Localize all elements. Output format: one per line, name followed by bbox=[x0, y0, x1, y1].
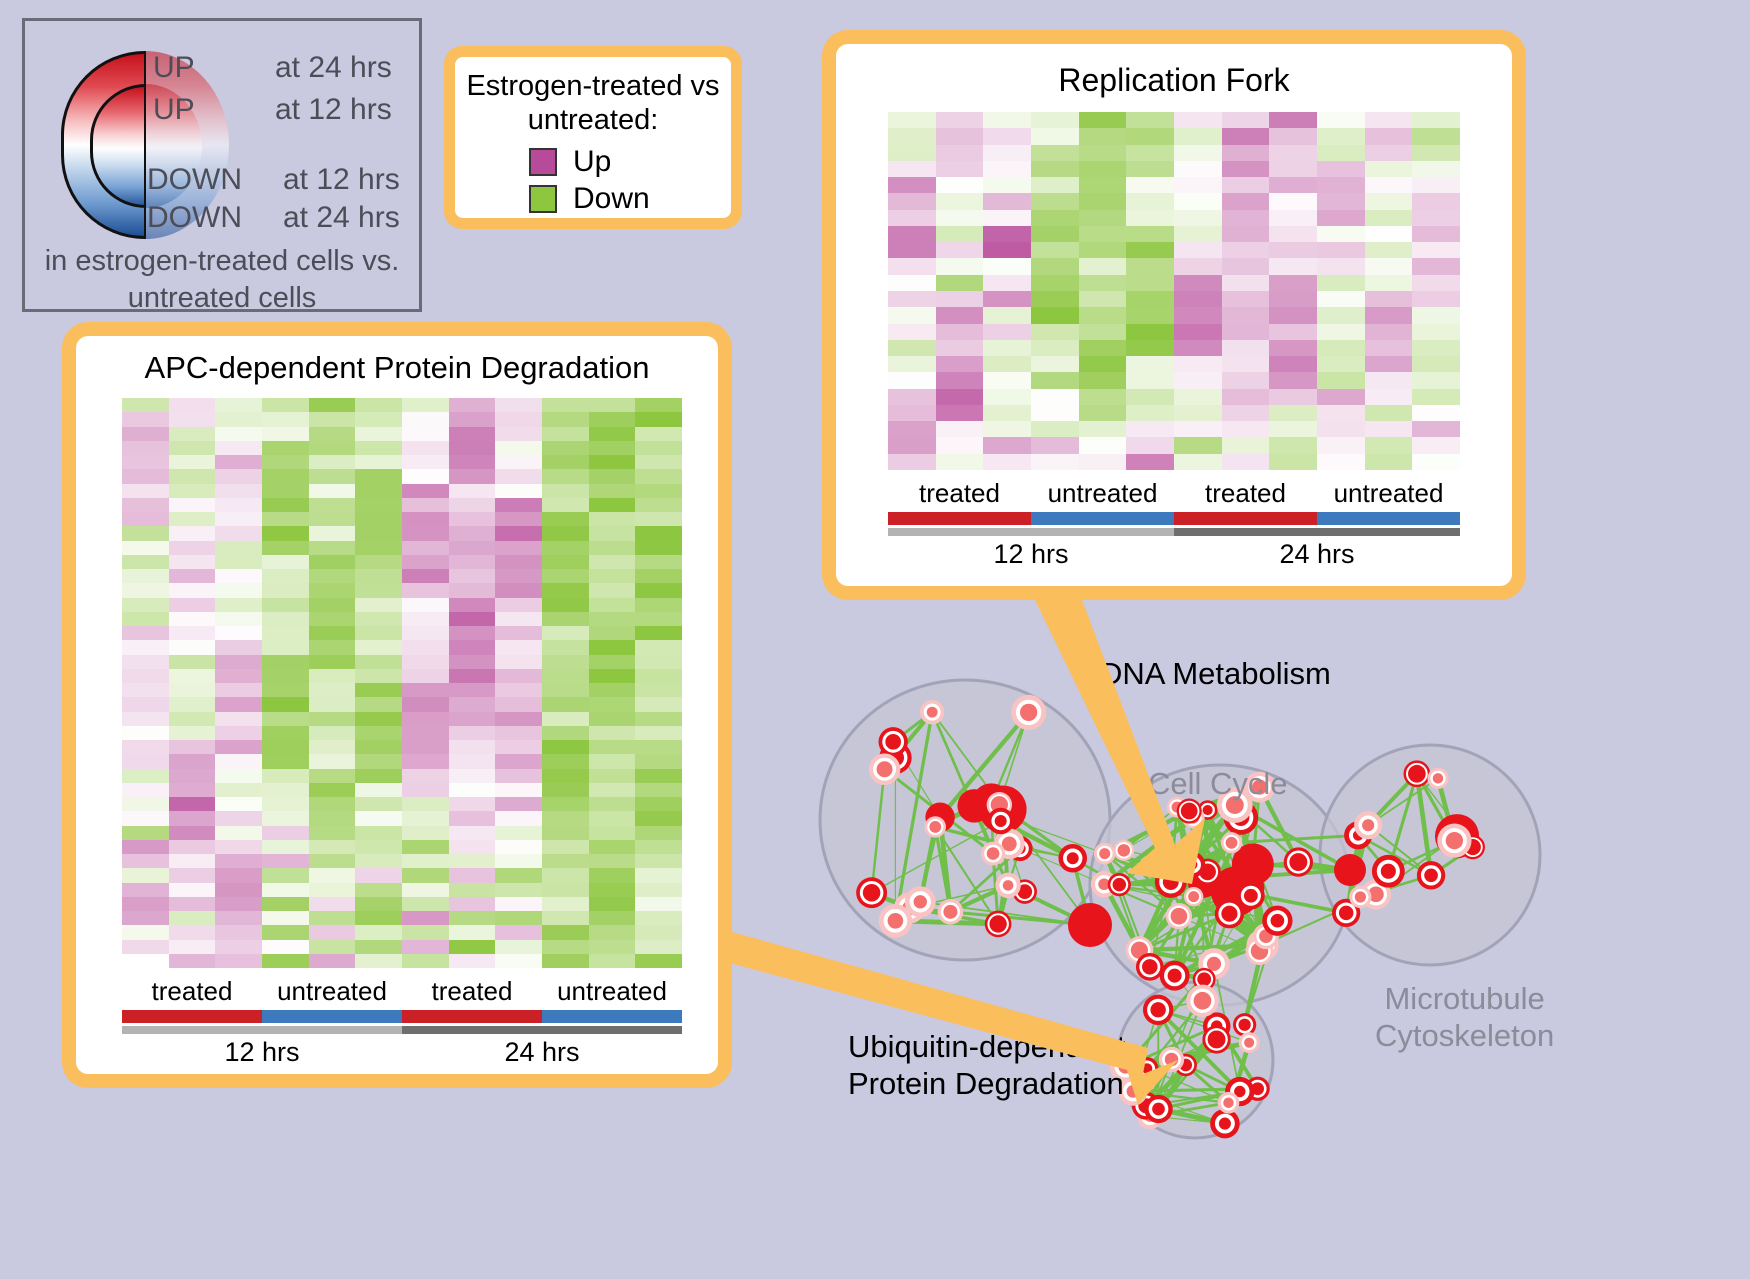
heatmap-cell bbox=[1365, 437, 1413, 453]
heatmap-cell bbox=[589, 512, 636, 526]
heatmap-cell bbox=[1365, 226, 1413, 242]
heatmap-cell bbox=[589, 683, 636, 697]
heatmap-cell bbox=[215, 555, 262, 569]
network-node bbox=[1188, 891, 1199, 902]
heatmap-cell bbox=[1031, 226, 1079, 242]
heatmap-cell bbox=[495, 840, 542, 854]
network-node bbox=[1197, 972, 1211, 986]
heatmap-cell bbox=[122, 811, 169, 825]
heatmap-cell bbox=[449, 911, 496, 925]
panel-replication-fork: Replication Fork treateduntreatedtreated… bbox=[822, 30, 1526, 600]
heatmap-cell bbox=[1126, 128, 1174, 144]
heatmap-cell bbox=[542, 797, 589, 811]
heatmap-cell bbox=[635, 797, 682, 811]
time-labels: 12 hrs24 hrs bbox=[888, 539, 1460, 570]
treatment-bar bbox=[542, 1010, 682, 1023]
heatmap-cell bbox=[589, 412, 636, 426]
heatmap-cell bbox=[495, 854, 542, 868]
heatmap-cell bbox=[635, 954, 682, 968]
heatmap-cell bbox=[215, 398, 262, 412]
heatmap-cell bbox=[635, 427, 682, 441]
heatmap-cell bbox=[122, 840, 169, 854]
heatmap-cell bbox=[542, 498, 589, 512]
heatmap-cell bbox=[589, 541, 636, 555]
heatmap-cell bbox=[402, 526, 449, 540]
heatmap-cell bbox=[309, 669, 356, 683]
heatmap-cell bbox=[169, 512, 216, 526]
heatmap-cell bbox=[402, 911, 449, 925]
heatmap-cell bbox=[122, 740, 169, 754]
heatmap-cell bbox=[1412, 324, 1460, 340]
heatmap-cell bbox=[888, 258, 936, 274]
heatmap-cell bbox=[1031, 340, 1079, 356]
heatmap-cell bbox=[262, 883, 309, 897]
heatmap-cell bbox=[635, 598, 682, 612]
heatmap-cell bbox=[449, 583, 496, 597]
heatmap-cell bbox=[1174, 437, 1222, 453]
heatmap-cell bbox=[1269, 454, 1317, 470]
heatmap-cell bbox=[589, 740, 636, 754]
time-label: 24 hrs bbox=[402, 1037, 682, 1068]
heatmap-cell bbox=[1222, 275, 1270, 291]
apc-title: APC-dependent Protein Degradation bbox=[76, 350, 718, 386]
heatmap-cell bbox=[1031, 421, 1079, 437]
heatmap-cell bbox=[355, 583, 402, 597]
heatmap-cell bbox=[355, 655, 402, 669]
heatmap-cell bbox=[1031, 356, 1079, 372]
network-node bbox=[1099, 848, 1110, 859]
key-label-down: Down bbox=[573, 182, 650, 216]
heatmap-cell bbox=[169, 398, 216, 412]
heatmap-cell bbox=[542, 626, 589, 640]
network-node bbox=[1334, 854, 1366, 886]
legend-label-up-12: UP bbox=[153, 93, 195, 127]
network-node bbox=[1067, 852, 1079, 864]
heatmap-cell bbox=[1079, 372, 1127, 388]
heatmap-cell bbox=[1365, 454, 1413, 470]
heatmap-cell bbox=[215, 683, 262, 697]
heatmap-cell bbox=[635, 840, 682, 854]
network-node bbox=[1433, 773, 1443, 783]
heatmap-cell bbox=[1269, 145, 1317, 161]
heatmap-cell bbox=[262, 484, 309, 498]
heatmap-cell bbox=[1269, 372, 1317, 388]
heatmap-cell bbox=[936, 258, 984, 274]
heatmap-cell bbox=[355, 826, 402, 840]
heatmap-cell bbox=[983, 258, 1031, 274]
heatmap-cell bbox=[355, 612, 402, 626]
heatmap-cell bbox=[169, 484, 216, 498]
heatmap-cell bbox=[1174, 145, 1222, 161]
heatmap-cell bbox=[542, 669, 589, 683]
heatmap-cell bbox=[589, 469, 636, 483]
heatmap-cell bbox=[635, 441, 682, 455]
heatmap-cell bbox=[402, 498, 449, 512]
heatmap-cell bbox=[355, 883, 402, 897]
heatmap-cell bbox=[1317, 177, 1365, 193]
heatmap-cell bbox=[262, 911, 309, 925]
heatmap-cell bbox=[309, 569, 356, 583]
heatmap-cell bbox=[355, 398, 402, 412]
group-labels: treateduntreatedtreateduntreated bbox=[122, 976, 682, 1007]
heatmap-cell bbox=[122, 512, 169, 526]
heatmap-cell bbox=[1126, 291, 1174, 307]
network-node bbox=[1339, 906, 1353, 920]
heatmap-cell bbox=[1269, 161, 1317, 177]
heatmap-cell bbox=[309, 868, 356, 882]
heatmap-cell bbox=[495, 669, 542, 683]
network-node bbox=[989, 915, 1006, 932]
time-label: 12 hrs bbox=[122, 1037, 402, 1068]
heatmap-cell bbox=[495, 626, 542, 640]
heatmap-cell bbox=[169, 469, 216, 483]
heatmap-cell bbox=[402, 469, 449, 483]
heatmap-cell bbox=[542, 555, 589, 569]
heatmap-cell bbox=[635, 712, 682, 726]
legend-time-up-24: at 24 hrs bbox=[275, 51, 392, 85]
heatmap-cell bbox=[635, 526, 682, 540]
heatmap-cell bbox=[262, 669, 309, 683]
heatmap-cell bbox=[1174, 454, 1222, 470]
heatmap-cell bbox=[449, 541, 496, 555]
key-items: Up Down bbox=[455, 145, 731, 216]
heatmap-cell bbox=[1031, 210, 1079, 226]
heatmap-cell bbox=[449, 811, 496, 825]
heatmap-cell bbox=[309, 697, 356, 711]
treatment-bar bbox=[122, 1010, 262, 1023]
time-bar bbox=[888, 528, 1174, 536]
heatmap-cell bbox=[122, 925, 169, 939]
heatmap-cell bbox=[169, 427, 216, 441]
heatmap-cell bbox=[449, 569, 496, 583]
heatmap-cell bbox=[449, 455, 496, 469]
heatmap-cell bbox=[449, 883, 496, 897]
heatmap-cell bbox=[262, 797, 309, 811]
heatmap-cell bbox=[309, 854, 356, 868]
heatmap-cell bbox=[355, 569, 402, 583]
heatmap-cell bbox=[169, 612, 216, 626]
heatmap-cell bbox=[449, 498, 496, 512]
treatment-bars bbox=[888, 512, 1460, 525]
heatmap-cell bbox=[1412, 291, 1460, 307]
heatmap-cell bbox=[1317, 437, 1365, 453]
heatmap-cell bbox=[635, 412, 682, 426]
heatmap-cell bbox=[309, 512, 356, 526]
heatmap-cell bbox=[449, 612, 496, 626]
heatmap-cell bbox=[122, 797, 169, 811]
heatmap-cell bbox=[449, 769, 496, 783]
heatmap-cell bbox=[215, 669, 262, 683]
heatmap-cell bbox=[589, 484, 636, 498]
heatmap-cell bbox=[309, 797, 356, 811]
heatmap-cell bbox=[589, 398, 636, 412]
heatmap-cell bbox=[262, 754, 309, 768]
heatmap-cell bbox=[983, 372, 1031, 388]
heatmap-cell bbox=[495, 526, 542, 540]
heatmap-cell bbox=[1079, 161, 1127, 177]
heatmap-cell bbox=[1269, 340, 1317, 356]
heatmap-cell bbox=[983, 421, 1031, 437]
heatmap-cell bbox=[169, 669, 216, 683]
heatmap-cell bbox=[1412, 112, 1460, 128]
heatmap-cell bbox=[1222, 405, 1270, 421]
heatmap-cell bbox=[542, 811, 589, 825]
heatmap-cell bbox=[542, 726, 589, 740]
heatmap-cell bbox=[495, 469, 542, 483]
heatmap-cell bbox=[215, 754, 262, 768]
heatmap-cell bbox=[122, 712, 169, 726]
network-node bbox=[957, 789, 991, 823]
heatmap-cell bbox=[635, 484, 682, 498]
heatmap-cell bbox=[888, 454, 936, 470]
heatmap-cell bbox=[215, 512, 262, 526]
heatmap-cell bbox=[495, 883, 542, 897]
heatmap-cell bbox=[215, 526, 262, 540]
heatmap-cell bbox=[589, 498, 636, 512]
network-node bbox=[1244, 889, 1258, 903]
heatmap-cell bbox=[495, 783, 542, 797]
heatmap-cell bbox=[355, 697, 402, 711]
heatmap-cell bbox=[589, 712, 636, 726]
heatmap-cell bbox=[122, 484, 169, 498]
time-bar bbox=[1174, 528, 1460, 536]
heatmap-cell bbox=[355, 769, 402, 783]
heatmap-cell bbox=[402, 868, 449, 882]
heatmap-cell bbox=[449, 712, 496, 726]
group-label: treated bbox=[888, 478, 1031, 509]
heatmap-cell bbox=[1174, 210, 1222, 226]
heatmap-cell bbox=[888, 242, 936, 258]
heatmap-cell bbox=[262, 811, 309, 825]
heatmap-cell bbox=[589, 441, 636, 455]
heatmap-cell bbox=[1365, 421, 1413, 437]
network-node bbox=[1381, 864, 1396, 879]
heatmap-cell bbox=[1126, 356, 1174, 372]
heatmap-cell bbox=[542, 783, 589, 797]
heatmap-cell bbox=[215, 412, 262, 426]
key-item-down: Down bbox=[529, 182, 731, 216]
heatmap-cell bbox=[355, 427, 402, 441]
heatmap-cell bbox=[122, 883, 169, 897]
heatmap-cell bbox=[542, 854, 589, 868]
heatmap-cell bbox=[122, 398, 169, 412]
heatmap-cell bbox=[309, 484, 356, 498]
heatmap-cell bbox=[1174, 161, 1222, 177]
heatmap-cell bbox=[1174, 291, 1222, 307]
heatmap-cell bbox=[355, 512, 402, 526]
heatmap-cell bbox=[1317, 128, 1365, 144]
heatmap-cell bbox=[449, 868, 496, 882]
heatmap-cell bbox=[1412, 405, 1460, 421]
heatmap-cell bbox=[888, 128, 936, 144]
heatmap-cell bbox=[888, 210, 936, 226]
heatmap-cell bbox=[169, 883, 216, 897]
heatmap-cell bbox=[169, 911, 216, 925]
heatmap-cell bbox=[589, 526, 636, 540]
network-node bbox=[1271, 914, 1285, 928]
heatmap-cell bbox=[1412, 372, 1460, 388]
heatmap-cell bbox=[589, 811, 636, 825]
heatmap-cell bbox=[589, 569, 636, 583]
heatmap-cell bbox=[542, 441, 589, 455]
heatmap-cell bbox=[1174, 340, 1222, 356]
heatmap-cell bbox=[449, 840, 496, 854]
heatmap-cell bbox=[1222, 128, 1270, 144]
heatmap-cell bbox=[262, 569, 309, 583]
heatmap-cell bbox=[495, 925, 542, 939]
treatment-bar bbox=[1317, 512, 1460, 525]
heatmap-cell bbox=[1365, 389, 1413, 405]
heatmap-cell bbox=[215, 883, 262, 897]
heatmap-cell bbox=[169, 925, 216, 939]
heatmap-cell bbox=[215, 769, 262, 783]
heatmap-cell bbox=[983, 128, 1031, 144]
heatmap-cell bbox=[1365, 177, 1413, 193]
heatmap-cell bbox=[888, 405, 936, 421]
network-node bbox=[1208, 1030, 1226, 1048]
heatmap-cell bbox=[1079, 454, 1127, 470]
heatmap-cell bbox=[309, 441, 356, 455]
heatmap-cell bbox=[169, 626, 216, 640]
heatmap-cell bbox=[1317, 291, 1365, 307]
heatmap-cell bbox=[262, 598, 309, 612]
heatmap-cell bbox=[888, 161, 936, 177]
heatmap-cell bbox=[1126, 405, 1174, 421]
heatmap-cell bbox=[983, 389, 1031, 405]
heatmap-cell bbox=[1031, 307, 1079, 323]
heatmap-cell bbox=[1269, 356, 1317, 372]
heatmap-cell bbox=[1365, 128, 1413, 144]
heatmap-cell bbox=[1269, 324, 1317, 340]
heatmap-cell bbox=[355, 526, 402, 540]
heatmap-cell bbox=[888, 372, 936, 388]
heatmap-cell bbox=[542, 840, 589, 854]
heatmap-cell bbox=[983, 405, 1031, 421]
heatmap-cell bbox=[1126, 340, 1174, 356]
heatmap-cell bbox=[215, 811, 262, 825]
heatmap-cell bbox=[169, 541, 216, 555]
heatmap-cell bbox=[449, 640, 496, 654]
heatmap-cell bbox=[122, 655, 169, 669]
panel-apc-degradation: APC-dependent Protein Degradation treate… bbox=[62, 322, 732, 1088]
heatmap-cell bbox=[983, 210, 1031, 226]
heatmap-cell bbox=[309, 412, 356, 426]
heatmap-cell bbox=[169, 569, 216, 583]
heatmap-cell bbox=[936, 193, 984, 209]
heatmap-cell bbox=[262, 740, 309, 754]
heatmap-cell bbox=[589, 583, 636, 597]
group-label: treated bbox=[122, 976, 262, 1007]
heatmap-cell bbox=[936, 324, 984, 340]
heatmap-cell bbox=[262, 626, 309, 640]
heatmap-cell bbox=[936, 275, 984, 291]
heatmap-cell bbox=[542, 583, 589, 597]
heatmap-cell bbox=[1126, 210, 1174, 226]
heatmap-cell bbox=[1412, 193, 1460, 209]
heatmap-cell bbox=[495, 868, 542, 882]
heatmap-cell bbox=[635, 925, 682, 939]
heatmap-cell bbox=[402, 712, 449, 726]
heatmap-cell bbox=[1412, 242, 1460, 258]
heatmap-cell bbox=[1317, 340, 1365, 356]
heatmap-cell bbox=[888, 226, 936, 242]
heatmap-cell bbox=[635, 740, 682, 754]
heatmap-cell bbox=[495, 498, 542, 512]
heatmap-cell bbox=[1269, 112, 1317, 128]
heatmap-cell bbox=[402, 811, 449, 825]
heatmap-cell bbox=[1126, 389, 1174, 405]
heatmap-cell bbox=[1365, 258, 1413, 274]
heatmap-cell bbox=[589, 612, 636, 626]
heatmap-cell bbox=[169, 526, 216, 540]
heatmap-cell bbox=[1269, 226, 1317, 242]
heatmap-cell bbox=[169, 754, 216, 768]
heatmap-cell bbox=[449, 469, 496, 483]
heatmap-cell bbox=[936, 389, 984, 405]
heatmap-cell bbox=[1269, 405, 1317, 421]
heatmap-cell bbox=[1222, 340, 1270, 356]
heatmap-cell bbox=[495, 640, 542, 654]
heatmap-cell bbox=[355, 541, 402, 555]
heatmap-cell bbox=[983, 112, 1031, 128]
group-label: untreated bbox=[1317, 478, 1460, 509]
heatmap-cell bbox=[1079, 112, 1127, 128]
heatmap-cell bbox=[1126, 275, 1174, 291]
group-labels: treateduntreatedtreateduntreated bbox=[888, 478, 1460, 509]
heatmap-cell bbox=[542, 712, 589, 726]
heatmap-cell bbox=[542, 883, 589, 897]
heatmap-cell bbox=[936, 112, 984, 128]
time-bars bbox=[122, 1026, 682, 1034]
heatmap-cell bbox=[1031, 161, 1079, 177]
heatmap-cell bbox=[1079, 193, 1127, 209]
heatmap-cell bbox=[1174, 128, 1222, 144]
heatmap-cell bbox=[589, 726, 636, 740]
heatmap-cell bbox=[1365, 340, 1413, 356]
heatmap-cell bbox=[1412, 177, 1460, 193]
heatmap-cell bbox=[542, 925, 589, 939]
heatmap-cell bbox=[309, 712, 356, 726]
heatmap-cell bbox=[215, 569, 262, 583]
heatmap-cell bbox=[402, 683, 449, 697]
network-node bbox=[1113, 878, 1126, 891]
heatmap-cell bbox=[888, 340, 936, 356]
legend-footer: in estrogen-treated cells vs. untreated … bbox=[25, 243, 419, 317]
heatmap-cell bbox=[262, 925, 309, 939]
heatmap-cell bbox=[936, 161, 984, 177]
heatmap-cell bbox=[215, 840, 262, 854]
heatmap-cell bbox=[169, 940, 216, 954]
heatmap-cell bbox=[1079, 145, 1127, 161]
heatmap-cell bbox=[122, 868, 169, 882]
heatmap-cell bbox=[1174, 226, 1222, 242]
heatmap-cell bbox=[589, 826, 636, 840]
heatmap-cell bbox=[169, 897, 216, 911]
heatmap-cell bbox=[402, 640, 449, 654]
heatmap-cell bbox=[122, 783, 169, 797]
heatmap-cell bbox=[402, 669, 449, 683]
heatmap-cell bbox=[309, 783, 356, 797]
heatmap-cell bbox=[1031, 177, 1079, 193]
heatmap-cell bbox=[122, 441, 169, 455]
heatmap-cell bbox=[309, 655, 356, 669]
network-node bbox=[1168, 969, 1182, 983]
heatmap-cell bbox=[495, 655, 542, 669]
heatmap-cell bbox=[589, 754, 636, 768]
heatmap-cell bbox=[355, 854, 402, 868]
estrogen-key-panel: Estrogen-treated vs untreated: Up Down bbox=[444, 46, 742, 229]
heatmap-cell bbox=[1317, 324, 1365, 340]
